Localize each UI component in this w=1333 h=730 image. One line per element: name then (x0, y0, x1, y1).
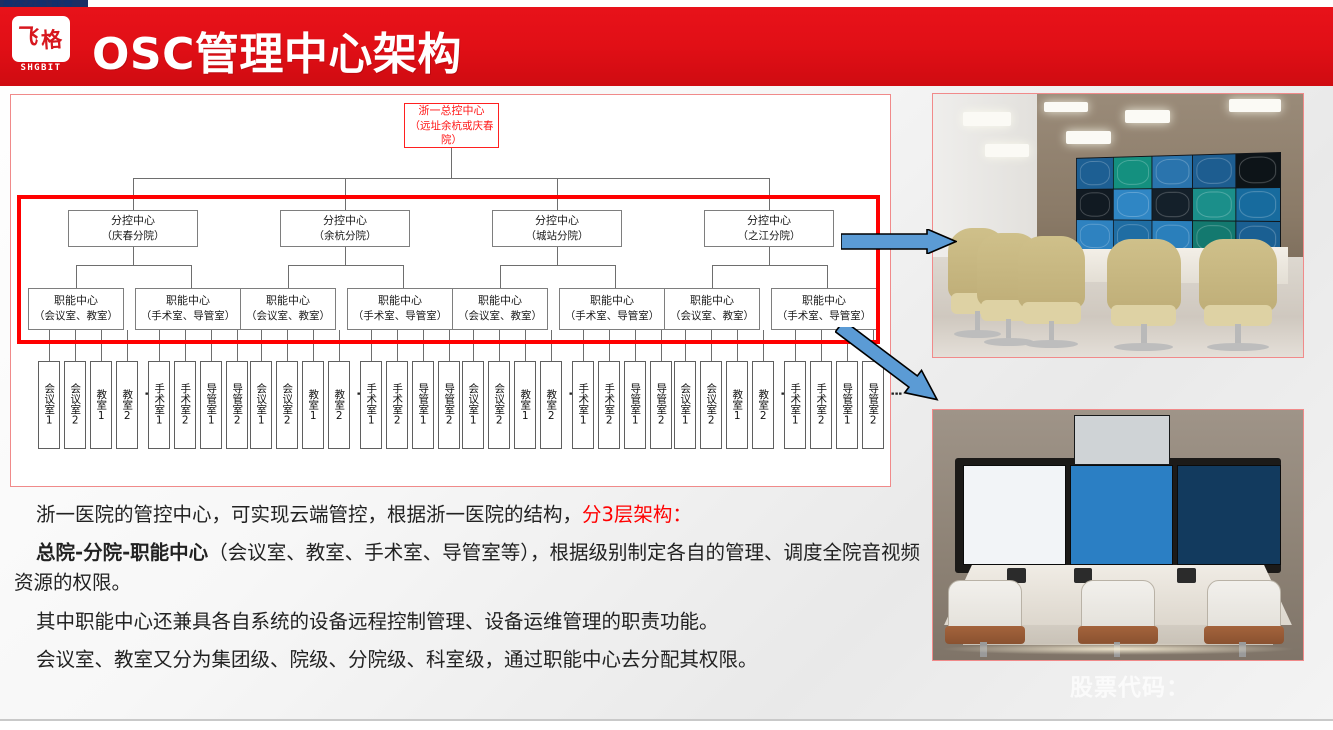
video-wall-screen (1236, 188, 1280, 222)
ceiling-light (1229, 99, 1281, 112)
right-display (1177, 465, 1281, 565)
body-paragraph-1: 浙一医院的管控中心，可实现云端管控，根据浙一医院的结构，分3层架构： (14, 500, 924, 530)
connector-bus-level2 (133, 178, 770, 179)
ceiling-light (1125, 110, 1169, 123)
leaf-node[interactable]: 导管室1 (200, 361, 222, 449)
video-wall-screen (1193, 188, 1235, 221)
title-banner: 飞 格 SHGBIT OSC管理中心架构 (0, 7, 1333, 86)
leaf-node[interactable]: 教室1 (302, 361, 324, 449)
logo-subtext: SHGBIT (12, 63, 70, 73)
leaf-node[interactable]: 会议室1 (462, 361, 484, 449)
leaf-node[interactable]: 手术室2 (386, 361, 408, 449)
logo-glyph-1: 飞 (15, 19, 42, 51)
previous-slide-sliver-text: 解决方案·部署 (3, 0, 73, 7)
leaf-node[interactable]: 会议室2 (276, 361, 298, 449)
leaf-node[interactable]: 手术室1 (360, 361, 382, 449)
leaf-node[interactable]: 教室2 (116, 361, 138, 449)
overhead-display (1074, 415, 1170, 465)
leaf-node[interactable]: 会议室2 (700, 361, 722, 449)
body-paragraph-4: 会议室、教室又分为集团级、院级、分院级、科室级，通过职能中心去分配其权限。 (14, 645, 924, 675)
chair (1107, 239, 1181, 357)
footer-divider (0, 719, 1333, 721)
node-root-line2: （远址余杭或庆春院） (405, 119, 498, 147)
leaf-node[interactable]: 导管室2 (226, 361, 248, 449)
stock-code-watermark: 股票代码： (1070, 668, 1190, 702)
control-room-real-photo (932, 409, 1304, 661)
leaf-node[interactable]: 手术室2 (598, 361, 620, 449)
microphone (1177, 568, 1196, 583)
ceiling-light (985, 144, 1029, 157)
arrow-to-top-photo (841, 229, 957, 254)
leaf-node[interactable]: 导管室2 (438, 361, 460, 449)
body-p1-highlight: 分3层架构： (582, 503, 692, 526)
leaf-node[interactable]: 会议室2 (64, 361, 86, 449)
ceiling-light (1066, 131, 1110, 144)
body-text-block: 浙一医院的管控中心，可实现云端管控，根据浙一医院的结构，分3层架构： 总院-分院… (14, 500, 924, 683)
leaf-node[interactable]: 教室1 (90, 361, 112, 449)
leaf-node[interactable]: 导管室1 (624, 361, 646, 449)
body-paragraph-3: 其中职能中心还兼具各自系统的设备远程控制管理、设备运维管理的职责功能。 (14, 607, 924, 637)
leaf-node[interactable]: 导管室2 (650, 361, 672, 449)
video-wall-screen (1193, 154, 1235, 187)
video-wall-screen (1153, 188, 1193, 220)
node-root[interactable]: 浙一总控中心 （远址余杭或庆春院） (404, 103, 499, 148)
body-p1-prefix: 浙一医院的管控中心，可实现云端管控，根据浙一医院的结构， (36, 503, 582, 526)
left-display (963, 465, 1067, 565)
leaf-node[interactable]: 会议室1 (38, 361, 60, 449)
video-wall-screen (1077, 189, 1113, 220)
leaf-node[interactable]: 教室1 (514, 361, 536, 449)
company-logo: 飞 格 SHGBIT (12, 16, 78, 78)
leaf-node[interactable]: 教室1 (726, 361, 748, 449)
org-diagram-panel: 浙一总控中心 （远址余杭或庆春院） 分控中心 （庆春分院） 分控中心 （余杭分院… (10, 94, 891, 487)
leaf-node[interactable]: 导管室1 (412, 361, 434, 449)
previous-slide-sliver: 解决方案·部署 (0, 0, 1333, 7)
leaf-node[interactable]: 教室2 (540, 361, 562, 449)
leaf-node[interactable]: 手术室2 (810, 361, 832, 449)
leaf-node[interactable]: 教室2 (752, 361, 774, 449)
control-room-render-photo (932, 93, 1304, 358)
chair (1199, 239, 1277, 357)
ceiling-light (963, 112, 1011, 125)
logo-glyph-2: 格 (40, 23, 63, 54)
video-wall-screen (1114, 157, 1152, 189)
leaf-node[interactable]: 手术室1 (784, 361, 806, 449)
video-wall-screen (1236, 153, 1280, 187)
connector-root-down (451, 148, 452, 178)
leaf-node[interactable]: 会议室1 (674, 361, 696, 449)
video-wall-screen (1153, 155, 1193, 187)
chair (1018, 236, 1085, 354)
leaf-node[interactable]: 手术室2 (174, 361, 196, 449)
leaf-node[interactable]: 手术室1 (572, 361, 594, 449)
leaf-node[interactable]: 手术室1 (148, 361, 170, 449)
floor-glow (940, 643, 1295, 656)
video-wall-screen (1114, 189, 1152, 220)
node-root-line1: 浙一总控中心 (419, 104, 485, 119)
page-title: OSC管理中心架构 (92, 18, 462, 82)
video-wall-screen (1077, 158, 1113, 189)
leaf-node[interactable]: 教室2 (328, 361, 350, 449)
ceiling-light (1044, 102, 1088, 113)
footer-area (0, 721, 1333, 730)
highlight-rectangle (17, 195, 880, 344)
center-display (1070, 465, 1174, 565)
body-paragraph-2: 总院-分院-职能中心（会议室、教室、手术室、导管室等），根据级别制定各自的管理、… (14, 538, 924, 598)
body-p2-bold: 总院-分院-职能中心 (36, 541, 208, 564)
logo-mark-icon: 飞 格 (12, 16, 70, 62)
leaf-node[interactable]: 会议室2 (488, 361, 510, 449)
leaf-node[interactable]: 会议室1 (250, 361, 272, 449)
arrow-to-bottom-photo (835, 327, 965, 427)
